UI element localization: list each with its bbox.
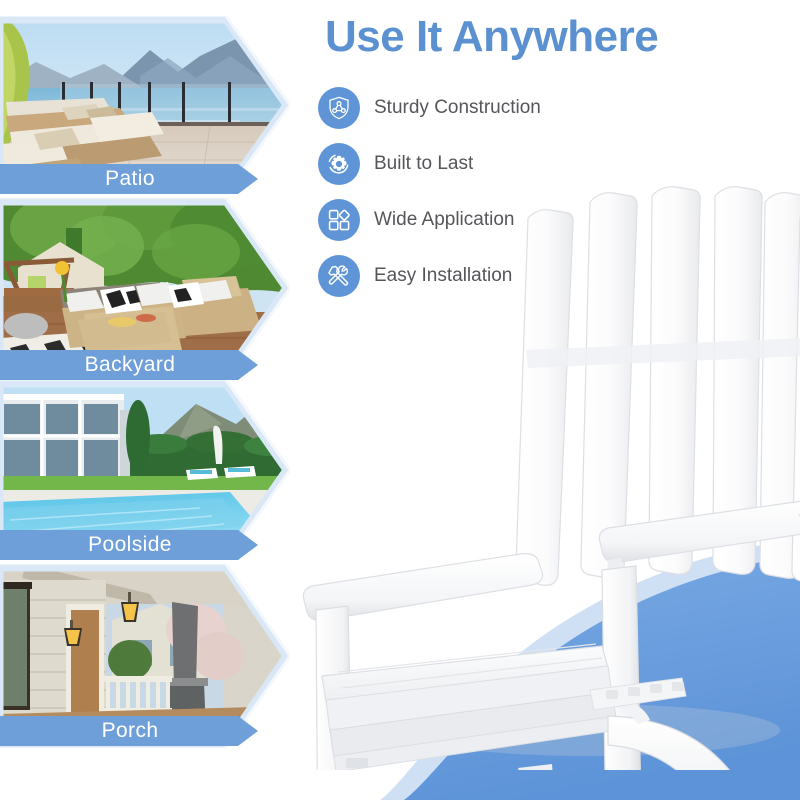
scene-thumbnail-patio[interactable]: Patio (0, 16, 290, 194)
porch-photo (0, 564, 290, 748)
scene-thumbnail-list: Patio (0, 0, 300, 800)
feature-item-sturdy-construction: Sturdy Construction (318, 80, 618, 136)
patio-photo (0, 16, 290, 194)
feature-label: Sturdy Construction (374, 97, 541, 119)
page-title: Use It Anywhere (325, 12, 658, 62)
shield-icon (318, 87, 360, 129)
scene-thumbnail-backyard[interactable]: Backyard (0, 198, 290, 378)
poolside-photo (0, 380, 290, 560)
product-feature-banner: Patio (0, 0, 800, 800)
product-image-adirondack-chair (290, 170, 800, 770)
scene-thumbnail-porch[interactable]: Porch (0, 564, 290, 748)
scene-thumbnail-poolside[interactable]: Poolside (0, 380, 290, 560)
backyard-photo (0, 198, 290, 378)
